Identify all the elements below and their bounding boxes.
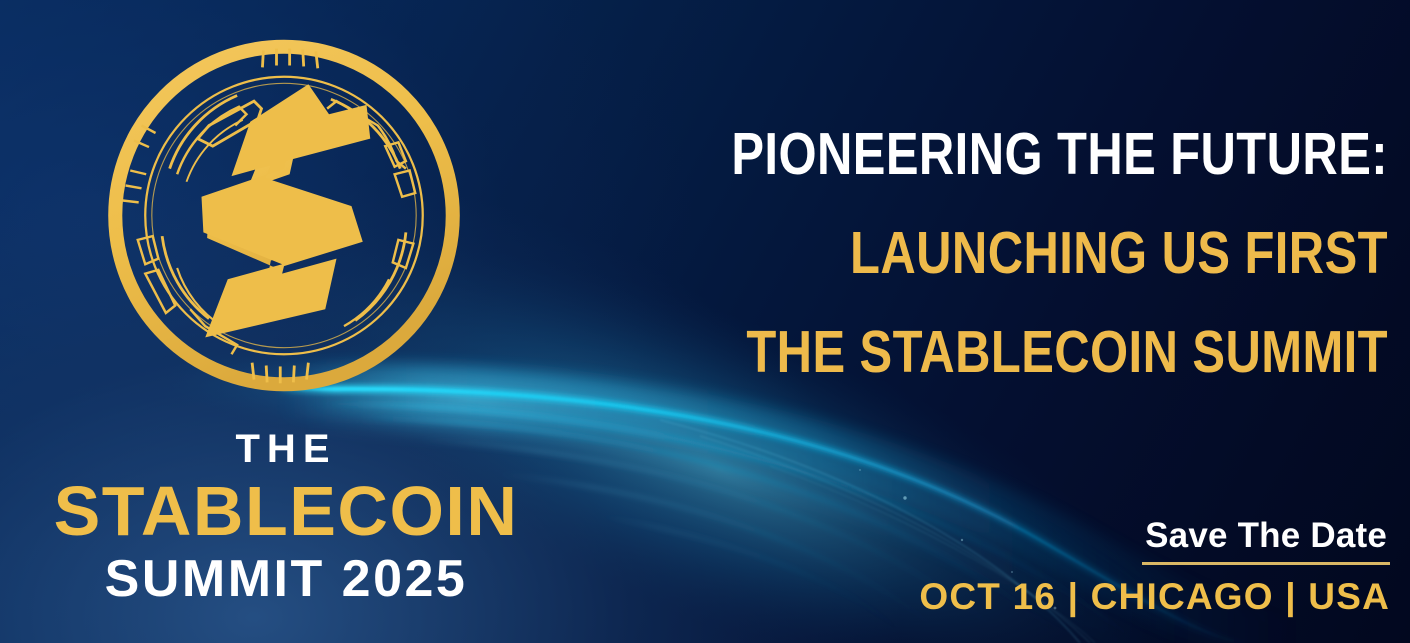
event-details-label: OCT 16 | CHICAGO | USA (870, 578, 1390, 615)
stablecoin-coin-emblem-icon (84, 28, 484, 403)
save-the-date-block: Save The Date OCT 16 | CHICAGO | USA (870, 518, 1390, 615)
logo-line-stablecoin: STABLECOIN (0, 474, 572, 550)
headline-block: PIONEERING THE FUTURE: LAUNCHING US FIRS… (588, 105, 1388, 402)
logo-line-summit: SUMMIT 2025 (0, 552, 572, 607)
save-the-date-label: Save The Date (1142, 518, 1390, 565)
headline-line-2: LAUNCHING US FIRST (724, 204, 1388, 303)
logo-line-the: THE (0, 429, 572, 469)
headline-line-3: THE STABLECOIN SUMMIT (724, 303, 1388, 402)
headline-line-1: PIONEERING THE FUTURE: (724, 105, 1388, 204)
logo-wordmark: THE STABLECOIN SUMMIT 2025 (0, 429, 572, 606)
event-banner: THE STABLECOIN SUMMIT 2025 PIONEERING TH… (0, 0, 1410, 643)
logo-lockup: THE STABLECOIN SUMMIT 2025 (0, 14, 572, 634)
